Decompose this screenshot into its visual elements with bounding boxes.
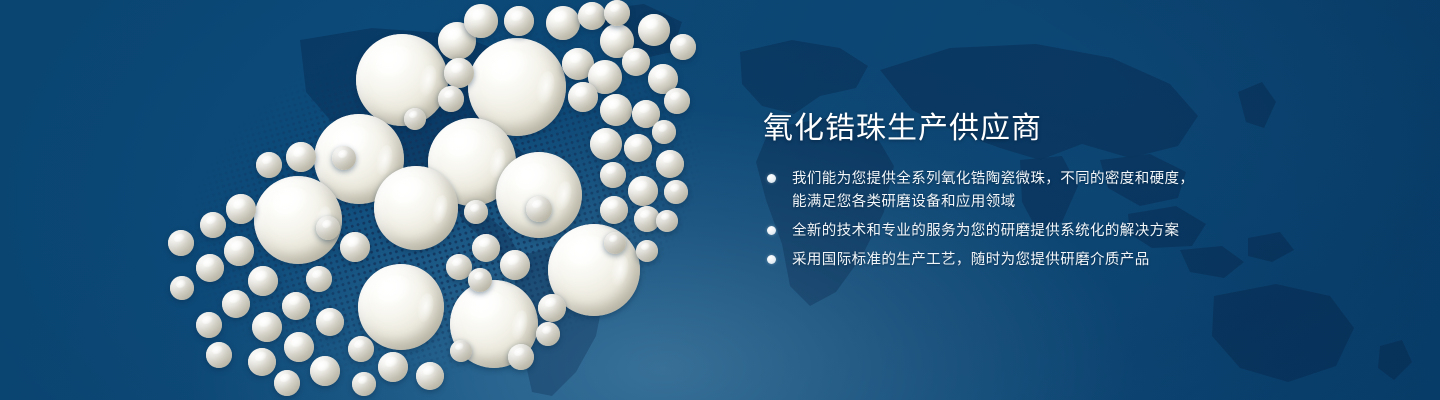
feature-text-line1: 全新的技术和专业的服务为您的研磨提供系统化的解决方案 <box>792 223 1179 239</box>
feature-list: 我们能为您提供全系列氧化锆陶瓷微珠，不同的密度和硬度， 能满足您各类研磨设备和应… <box>764 168 1234 278</box>
list-item: 我们能为您提供全系列氧化锆陶瓷微珠，不同的密度和硬度， 能满足您各类研磨设备和应… <box>764 168 1234 214</box>
bullet-dot-icon <box>767 174 776 183</box>
feature-text-line1: 采用国际标准的生产工艺，随时为您提供研磨介质产品 <box>792 252 1150 268</box>
bullet-dot-icon <box>767 226 776 235</box>
feature-text: 全新的技术和专业的服务为您的研磨提供系统化的解决方案 <box>792 220 1234 243</box>
page-title: 氧化锆珠生产供应商 <box>763 110 1042 148</box>
feature-text-line2: 能满足您各类研磨设备和应用领域 <box>792 191 1234 214</box>
bullet-dot-icon <box>767 255 776 264</box>
feature-text: 我们能为您提供全系列氧化锆陶瓷微珠，不同的密度和硬度， 能满足您各类研磨设备和应… <box>792 168 1234 214</box>
feature-text-line1: 我们能为您提供全系列氧化锆陶瓷微珠，不同的密度和硬度， <box>792 171 1194 187</box>
list-item: 全新的技术和专业的服务为您的研磨提供系统化的解决方案 <box>764 220 1234 243</box>
zirconia-beads-image <box>0 0 760 400</box>
list-item: 采用国际标准的生产工艺，随时为您提供研磨介质产品 <box>764 249 1234 272</box>
promo-banner: 氧化锆珠生产供应商 我们能为您提供全系列氧化锆陶瓷微珠，不同的密度和硬度， 能满… <box>0 0 1440 400</box>
feature-text: 采用国际标准的生产工艺，随时为您提供研磨介质产品 <box>792 249 1234 272</box>
banner-text-column: 氧化锆珠生产供应商 我们能为您提供全系列氧化锆陶瓷微珠，不同的密度和硬度， 能满… <box>762 0 1322 400</box>
